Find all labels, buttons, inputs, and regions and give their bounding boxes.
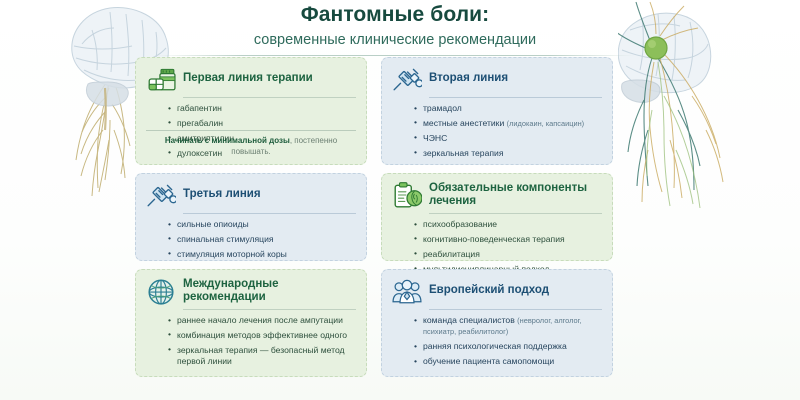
card-title: Международные рекомендации xyxy=(183,278,356,304)
pill-bottle-icon xyxy=(146,65,176,93)
card-mandatory-components: Обязательные компоненты леченияпсихообра… xyxy=(381,173,613,261)
list-item-label: обучение пациента самопомощи xyxy=(423,356,554,366)
card-international-guidelines: Международные рекомендациираннее начало … xyxy=(135,269,367,377)
card-title: Европейский подход xyxy=(429,284,549,297)
list-item: спинальная стимуляция xyxy=(168,234,356,245)
card-title: Вторая линия xyxy=(429,72,508,85)
list-item: зеркальная терапия xyxy=(414,148,602,159)
list-item: психообразование xyxy=(414,219,602,230)
list-item: когнитивно-поведенческая терапия xyxy=(414,234,602,245)
card-item-list: раннее начало лечения после ампутацииком… xyxy=(146,315,356,367)
card-note: Начинать с минимальной дозы, постепенно … xyxy=(146,130,356,157)
card-item-list: трамадолместные анестетики (лидокаин, ка… xyxy=(392,103,602,159)
card-title-divider xyxy=(429,213,602,214)
card-header: Вторая линия xyxy=(392,65,602,97)
list-item-label: зеркальная терапия xyxy=(423,148,503,158)
list-item: стимуляция моторной коры xyxy=(168,249,356,260)
list-item: зеркальная терапия — безопасный метод пе… xyxy=(168,345,356,368)
list-item-label: трамадол xyxy=(423,103,462,113)
card-first-line: Первая линия терапиигабапентинпрегабалин… xyxy=(135,57,367,165)
list-item-detail: (лидокаин, капсаицин) xyxy=(507,119,585,128)
card-header: Первая линия терапии xyxy=(146,65,356,97)
list-item-label: комбинация методов эффективнее одного xyxy=(177,330,347,340)
card-title: Обязательные компоненты лечения xyxy=(429,182,602,208)
list-item-label: команда специалистов xyxy=(423,315,517,325)
syringe-icon xyxy=(146,181,176,209)
list-item: местные анестетики (лидокаин, капсаицин) xyxy=(414,118,602,129)
card-title-divider xyxy=(183,97,356,98)
list-item: габапентин xyxy=(168,103,356,114)
page-subtitle: современные клинические рекомендации xyxy=(130,31,660,49)
card-title-divider xyxy=(183,309,356,310)
list-item-label: прегабалин xyxy=(177,118,223,128)
card-title-divider xyxy=(429,97,602,98)
list-item-label: стимуляция моторной коры xyxy=(177,249,287,259)
list-item: ранняя психологическая поддержка xyxy=(414,341,602,352)
card-title-divider xyxy=(429,309,602,310)
list-item: ЧЭНС xyxy=(414,133,602,144)
card-item-list: психообразованиекогнитивно-поведенческая… xyxy=(392,219,602,275)
infographic-header: Фантомные боли: современные клинические … xyxy=(130,2,660,56)
list-item-label: габапентин xyxy=(177,103,222,113)
card-title: Третья линия xyxy=(183,188,261,201)
list-item-label: когнитивно-поведенческая терапия xyxy=(423,234,565,244)
card-title: Первая линия терапии xyxy=(183,72,313,85)
card-title-divider xyxy=(183,213,356,214)
list-item-label: ранняя психологическая поддержка xyxy=(423,341,567,351)
syringe-icon xyxy=(392,65,422,93)
list-item: комбинация методов эффективнее одного xyxy=(168,330,356,341)
list-item: прегабалин xyxy=(168,118,356,129)
card-note-strong: Начинать с минимальной дозы xyxy=(165,136,290,145)
card-european-approach: Европейский подходкоманда специалистов (… xyxy=(381,269,613,377)
list-item: команда специалистов (невролог, алголог,… xyxy=(414,315,602,338)
care-team-icon xyxy=(392,277,422,305)
card-header: Третья линия xyxy=(146,181,356,213)
list-item: реабилитация xyxy=(414,249,602,260)
card-item-list: команда специалистов (невролог, алголог,… xyxy=(392,315,602,367)
header-divider xyxy=(155,55,635,56)
list-item: трамадол xyxy=(414,103,602,114)
list-item: раннее начало лечения после ампутации xyxy=(168,315,356,326)
card-second-line: Вторая линиятрамадолместные анестетики (… xyxy=(381,57,613,165)
recommendation-card-grid: Первая линия терапиигабапентинпрегабалин… xyxy=(135,57,645,377)
infographic-canvas: Фантомные боли: современные клинические … xyxy=(0,0,800,400)
card-header: Международные рекомендации xyxy=(146,277,356,309)
card-header: Европейский подход xyxy=(392,277,602,309)
list-item-label: реабилитация xyxy=(423,249,480,259)
clipboard-brain-icon xyxy=(392,181,422,209)
page-title: Фантомные боли: xyxy=(130,2,660,28)
list-item-label: ЧЭНС xyxy=(423,133,447,143)
globe-icon xyxy=(146,277,176,305)
card-third-line: Третья линиясильные опиоидыспинальная ст… xyxy=(135,173,367,261)
list-item-label: психообразование xyxy=(423,219,497,229)
list-item-label: раннее начало лечения после ампутации xyxy=(177,315,343,325)
list-item-label: местные анестетики xyxy=(423,118,507,128)
list-item-label: сильные опиоиды xyxy=(177,219,249,229)
list-item: сильные опиоиды xyxy=(168,219,356,230)
list-item-label: спинальная стимуляция xyxy=(177,234,274,244)
list-item-label: зеркальная терапия — безопасный метод пе… xyxy=(177,345,345,366)
card-item-list: сильные опиоидыспинальная стимуляциястим… xyxy=(146,219,356,260)
list-item: обучение пациента самопомощи xyxy=(414,356,602,367)
card-header: Обязательные компоненты лечения xyxy=(392,181,602,213)
